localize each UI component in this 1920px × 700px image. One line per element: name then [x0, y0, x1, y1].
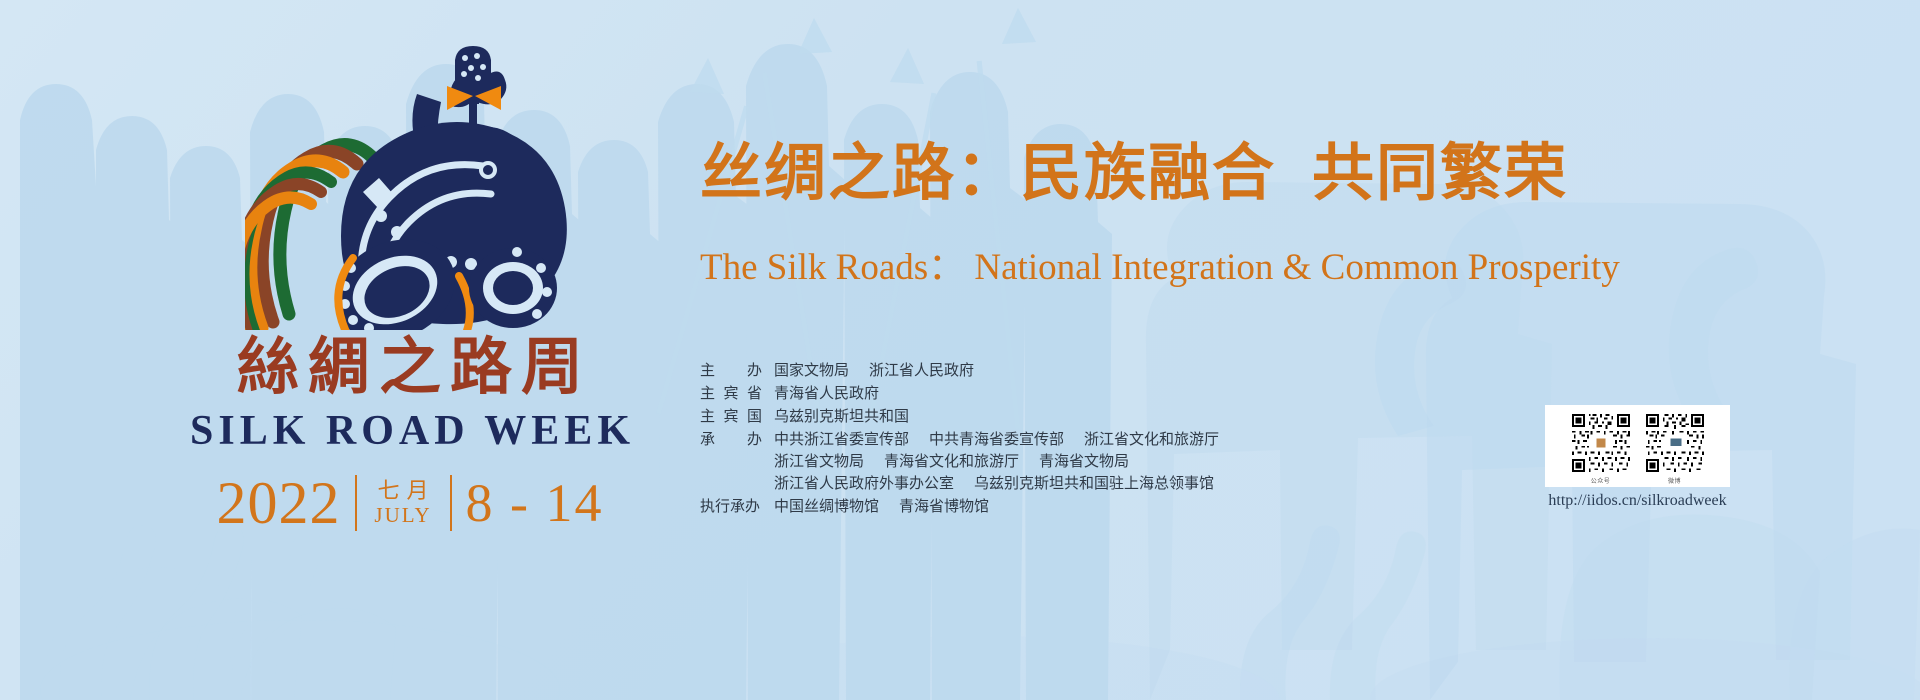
credit-values: 中国丝绸博物馆青海省博物馆 [774, 496, 989, 518]
credit-row: 执行承办中国丝绸博物馆青海省博物馆 [700, 496, 1219, 518]
qr-card: 公众号 [1545, 405, 1730, 487]
qr-item-official-account[interactable]: 公众号 [1570, 412, 1632, 485]
credit-entity: 青海省博物馆 [899, 498, 989, 515]
credit-line: 乌兹别克斯坦共和国 [774, 406, 909, 428]
credit-label: 主办 [700, 360, 762, 382]
event-url[interactable]: http://iidos.cn/silkroadweek [1548, 492, 1726, 510]
credit-entity: 浙江省人民政府 [869, 362, 974, 379]
qr-code-weibo-icon[interactable] [1644, 412, 1706, 474]
silk-road-week-horse-emblem [245, 40, 575, 330]
date-divider-2 [450, 475, 452, 531]
credit-entity: 中共浙江省委宣传部 [774, 431, 909, 448]
credit-values: 乌兹别克斯坦共和国 [774, 406, 909, 428]
credit-entity: 青海省文物局 [1039, 453, 1129, 470]
credit-entity: 青海省文化和旅游厅 [884, 453, 1019, 470]
credits-block: 主办国家文物局浙江省人民政府主宾省青海省人民政府主宾国乌兹别克斯坦共和国承办中共… [700, 360, 1219, 519]
credit-line: 中共浙江省委宣传部中共青海省委宣传部浙江省文化和旅游厅 [774, 429, 1219, 451]
event-date: 2022 七月 JULY 8 - 14 [217, 473, 604, 533]
credit-label-char: 国 [747, 406, 762, 428]
credit-row: 主办国家文物局浙江省人民政府 [700, 360, 1219, 382]
qr-label-weibo: 微博 [1668, 476, 1681, 485]
credit-values: 中共浙江省委宣传部中共青海省委宣传部浙江省文化和旅游厅浙江省文物局青海省文化和旅… [774, 429, 1219, 495]
credit-values: 青海省人民政府 [774, 383, 879, 405]
date-days: 8 - 14 [466, 476, 604, 530]
credit-row: 主宾省青海省人民政府 [700, 383, 1219, 405]
credit-line: 国家文物局浙江省人民政府 [774, 360, 974, 382]
credit-row: 承办中共浙江省委宣传部中共青海省委宣传部浙江省文化和旅游厅浙江省文物局青海省文化… [700, 429, 1219, 495]
logo-name-cn: 絲綢之路周 [228, 336, 592, 401]
credit-entity: 中共青海省委宣传部 [929, 431, 1064, 448]
credit-label-char: 宾 [723, 406, 738, 428]
credit-entity: 浙江省文化和旅游厅 [1084, 431, 1219, 448]
qr-code-wechat-official-icon[interactable] [1570, 412, 1632, 474]
credit-entity: 浙江省文物局 [774, 453, 864, 470]
credit-label-char: 主 [700, 383, 715, 405]
credit-entity: 浙江省人民政府外事办公室 [774, 475, 954, 492]
qr-block: 公众号 [1545, 405, 1730, 510]
date-month-en: JULY [374, 505, 431, 526]
credit-entity: 中国丝绸博物馆 [774, 498, 879, 515]
logo-name-en: SILK ROAD WEEK [185, 407, 635, 455]
credit-label-char: 省 [747, 383, 762, 405]
credit-label-char: 宾 [723, 383, 738, 405]
title-english: The Silk Roads： National Integration & C… [700, 248, 1620, 289]
credit-entity: 乌兹别克斯坦共和国 [774, 408, 909, 425]
credit-label-char: 承 [700, 429, 715, 451]
silk-road-week-banner: 絲綢之路周 SILK ROAD WEEK 2022 七月 JULY 8 - 14… [0, 0, 1920, 700]
title-chinese-part2: 共同繁荣 [1312, 140, 1568, 208]
date-divider-1 [355, 475, 357, 531]
qr-item-weibo[interactable]: 微博 [1644, 412, 1706, 485]
date-month: 七月 JULY [371, 480, 436, 526]
credit-label: 执行承办 [700, 496, 762, 518]
credit-label-char: 主 [700, 360, 715, 382]
credit-line: 中国丝绸博物馆青海省博物馆 [774, 496, 989, 518]
credit-line: 浙江省文物局青海省文化和旅游厅青海省文物局 [774, 451, 1219, 473]
credit-label: 主宾省 [700, 383, 762, 405]
credit-entity: 乌兹别克斯坦共和国驻上海总领事馆 [974, 475, 1214, 492]
credit-label-char: 办 [747, 429, 762, 451]
qr-label-official-account: 公众号 [1591, 476, 1611, 485]
credit-entity: 青海省人民政府 [774, 385, 879, 402]
credit-label-char: 办 [747, 360, 762, 382]
credit-values: 国家文物局浙江省人民政府 [774, 360, 974, 382]
credit-entity: 国家文物局 [774, 362, 849, 379]
credit-label-char: 主 [700, 406, 715, 428]
date-month-cn: 七月 [371, 480, 436, 502]
credit-line: 浙江省人民政府外事办公室乌兹别克斯坦共和国驻上海总领事馆 [774, 473, 1219, 495]
credit-row: 主宾国乌兹别克斯坦共和国 [700, 406, 1219, 428]
credit-label: 主宾国 [700, 406, 762, 428]
credit-label: 承办 [700, 429, 762, 451]
title-chinese: 丝绸之路：民族融合共同繁荣 [700, 140, 1568, 208]
title-chinese-part1: 丝绸之路：民族融合 [700, 140, 1276, 208]
logo-block: 絲綢之路周 SILK ROAD WEEK 2022 七月 JULY 8 - 14 [150, 40, 670, 570]
date-year: 2022 [217, 473, 341, 533]
credit-line: 青海省人民政府 [774, 383, 879, 405]
